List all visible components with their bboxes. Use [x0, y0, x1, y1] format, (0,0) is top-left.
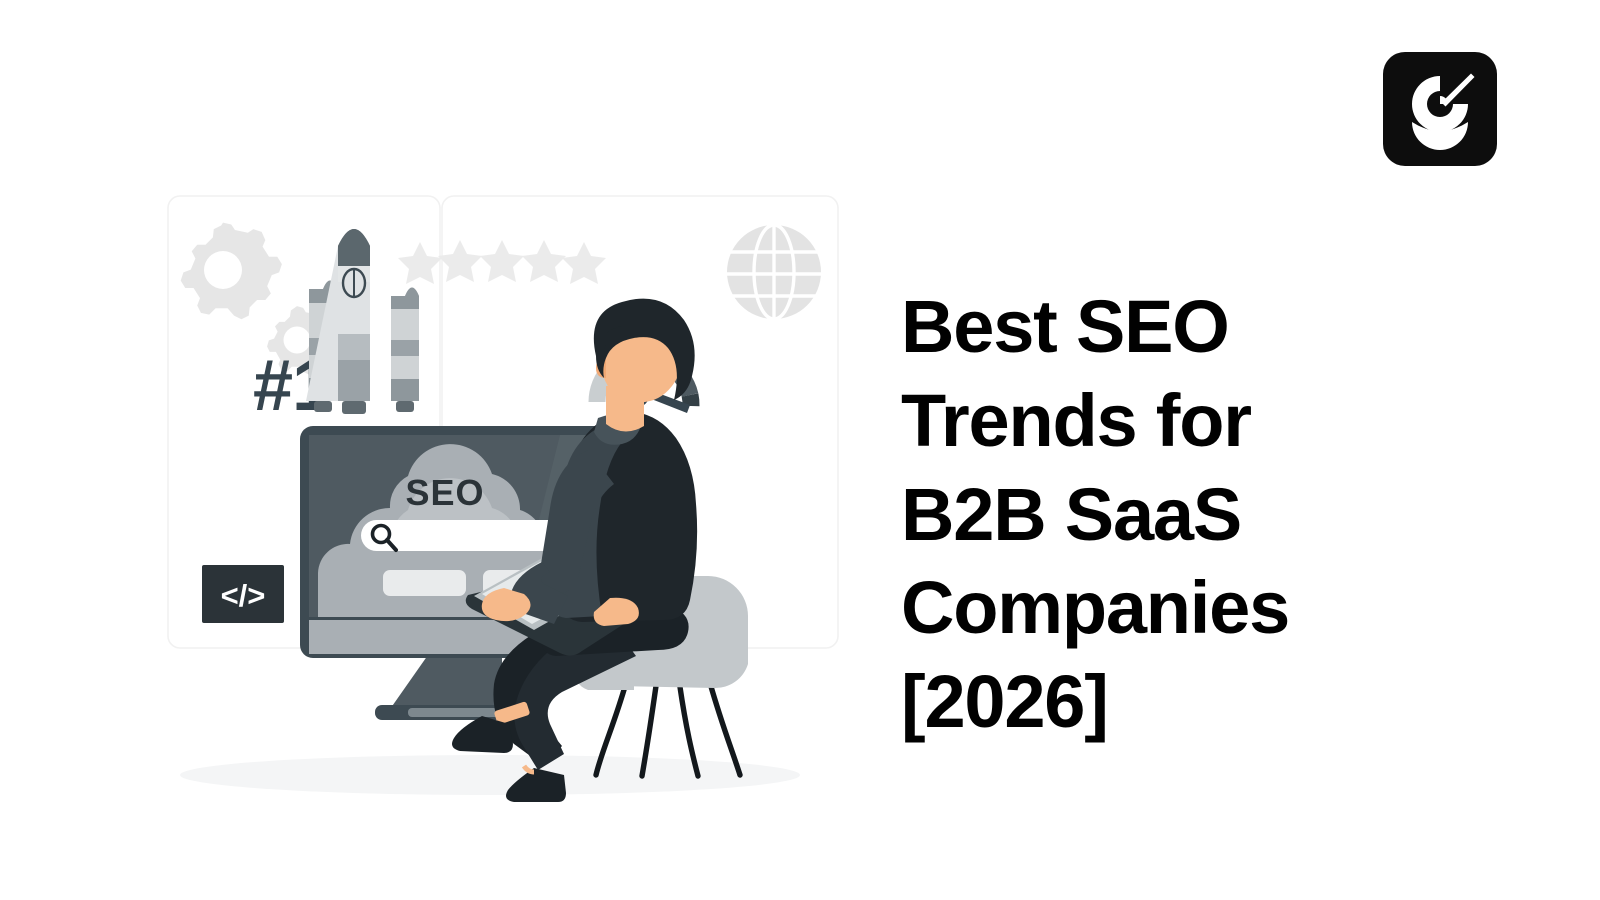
floor-shadow	[180, 755, 800, 795]
result-row	[383, 570, 466, 596]
globe-icon	[727, 225, 821, 319]
code-badge: </>	[202, 565, 284, 623]
gauge-g-logo-mark	[1412, 74, 1475, 151]
brand-logo[interactable]	[1383, 52, 1497, 166]
page-title: Best SEO Trends for B2B SaaS Companies […	[901, 280, 1461, 750]
rocket-booster-right	[391, 288, 419, 413]
svg-text:</>: </>	[221, 578, 266, 613]
seo-ranking-illustration: #1 </>	[90, 150, 890, 830]
svg-text:SEO: SEO	[405, 472, 484, 513]
page-root: #1 </>	[0, 0, 1600, 900]
